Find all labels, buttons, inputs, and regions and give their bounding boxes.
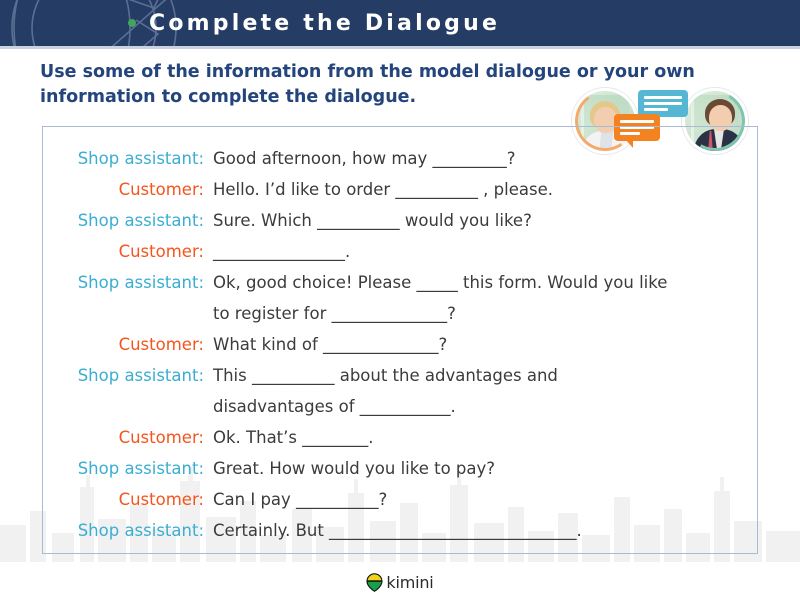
speaker-label: Shop assistant:	[43, 366, 213, 385]
dialogue-line-text: Ok, good choice! Please _____ this form.…	[213, 273, 667, 292]
title-bullet-icon	[128, 19, 136, 27]
dialogue-panel: Shop assistant: Good afternoon, how may …	[42, 126, 758, 554]
dialogue-line-text: ________________.	[213, 242, 350, 261]
dialogue-row: Shop assistant: Good afternoon, how may …	[43, 149, 757, 180]
dialogue-row-continuation: to register for ______________?	[43, 304, 757, 335]
dialogue-line-text: Certainly. But _________________________…	[213, 521, 582, 540]
dialogue-row: Customer: Hello. I’d like to order _____…	[43, 180, 757, 211]
dialogue-row: Customer: Can I pay __________?	[43, 490, 757, 521]
dialogue-line-text: Ok. That’s ________.	[213, 428, 373, 447]
page-header: Complete the Dialogue	[0, 0, 800, 46]
page-title: Complete the Dialogue	[149, 11, 500, 36]
header-underline	[0, 46, 800, 49]
dialogue-line-text: Can I pay __________?	[213, 490, 387, 509]
speaker-label: Customer:	[43, 335, 213, 354]
dialogue-row: Shop assistant: This __________ about th…	[43, 366, 757, 397]
dialogue-row: Customer: ________________.	[43, 242, 757, 273]
dialogue-row: Shop assistant: Certainly. But _________…	[43, 521, 757, 552]
dialogue-line-text: Great. How would you like to pay?	[213, 459, 495, 478]
dialogue-list: Shop assistant: Good afternoon, how may …	[43, 127, 757, 552]
dialogue-row: Customer: What kind of ______________?	[43, 335, 757, 366]
speaker-label: Customer:	[43, 180, 213, 199]
page-title-row: Complete the Dialogue	[128, 0, 500, 46]
footer: kimini	[0, 573, 800, 592]
dialogue-line-text: This __________ about the advantages and	[213, 366, 558, 385]
speaker-label: Customer:	[43, 428, 213, 447]
dialogue-row-continuation: disadvantages of ___________.	[43, 397, 757, 428]
brand-name: kimini	[386, 573, 433, 592]
dialogue-line-text: Sure. Which __________ would you like?	[213, 211, 532, 230]
dialogue-line-text: Good afternoon, how may _________?	[213, 149, 516, 168]
dialogue-row: Shop assistant: Ok, good choice! Please …	[43, 273, 757, 304]
dialogue-line-text: Hello. I’d like to order __________ , pl…	[213, 180, 553, 199]
dialogue-line-text: disadvantages of ___________.	[213, 397, 456, 416]
dialogue-line-text: to register for ______________?	[213, 304, 456, 323]
dialogue-row: Shop assistant: Sure. Which __________ w…	[43, 211, 757, 242]
kimini-logo-icon	[366, 573, 383, 592]
speaker-label: Shop assistant:	[43, 521, 213, 540]
speaker-label: Shop assistant:	[43, 273, 213, 292]
speaker-label: Shop assistant:	[43, 459, 213, 478]
dialogue-row: Shop assistant: Great. How would you lik…	[43, 459, 757, 490]
speaker-label: Customer:	[43, 490, 213, 509]
speaker-label: Shop assistant:	[43, 211, 213, 230]
dialogue-row: Customer: Ok. That’s ________.	[43, 428, 757, 459]
teal-speech-bubble-icon	[638, 90, 688, 117]
speaker-label: Shop assistant:	[43, 149, 213, 168]
speaker-label: Customer:	[43, 242, 213, 261]
dialogue-line-text: What kind of ______________?	[213, 335, 447, 354]
